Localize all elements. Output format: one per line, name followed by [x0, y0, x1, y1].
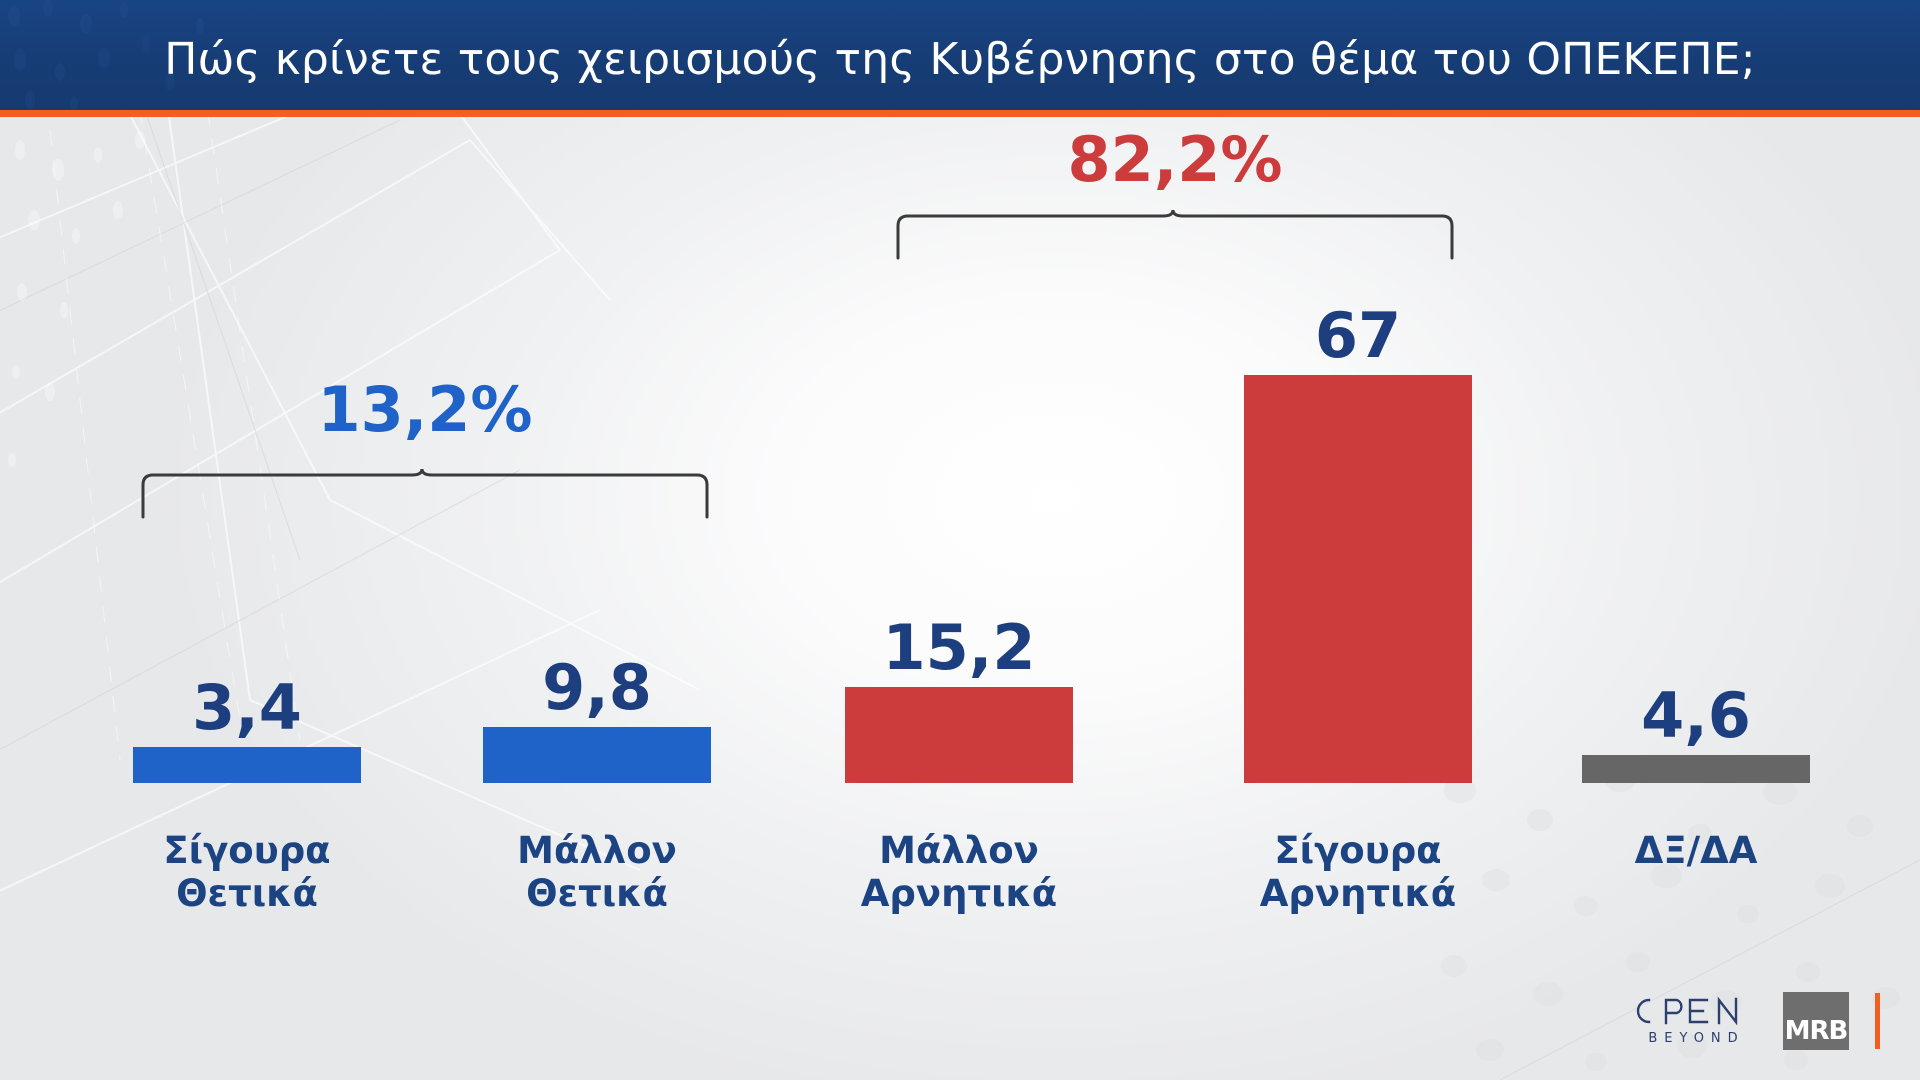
open-wordmark-icon [1629, 996, 1757, 1026]
mrb-wordmark: MRB [1787, 1015, 1845, 1046]
header-bar: Πώς κρίνετε τους χειρισμούς της Κυβέρνησ… [0, 0, 1920, 117]
bar-category-2: Μάλλον Αρνητικά [845, 829, 1073, 916]
bar-value-0: 3,4 [133, 677, 361, 739]
bar-value-4: 4,6 [1582, 685, 1810, 747]
bar-value-3: 67 [1244, 305, 1472, 367]
group-label-negative: 82,2% [895, 129, 1455, 191]
group-label-positive: 13,2% [140, 379, 710, 441]
bar-category-3: Σίγουρα Αρνητικά [1244, 829, 1472, 916]
chart-plot-area: 13,2% 82,2% 3,4 Σίγουρα Θετικά 9,8 Μάλλο… [0, 117, 1920, 1080]
bar-category-1: Μάλλον Θετικά [483, 829, 711, 916]
bar-rect-4[interactable] [1582, 755, 1810, 783]
orange-accent-bar [1875, 993, 1880, 1049]
page-title: Πώς κρίνετε τους χειρισμούς της Κυβέρνησ… [0, 34, 1920, 85]
open-beyond-logo: BEYOND [1629, 996, 1757, 1046]
brace-negative-group [895, 210, 1455, 260]
bar-category-0: Σίγουρα Θετικά [133, 829, 361, 916]
logo-row: BEYOND MRB [1629, 984, 1880, 1058]
mrb-logo-bar [1787, 996, 1845, 1015]
open-tagline: BEYOND [1641, 1031, 1744, 1046]
bar-rect-3[interactable] [1244, 375, 1472, 783]
bar-rect-0[interactable] [133, 747, 361, 783]
bar-value-1: 9,8 [483, 657, 711, 719]
mrb-logo: MRB [1783, 992, 1849, 1050]
bar-rect-2[interactable] [845, 687, 1073, 783]
bar-rect-1[interactable] [483, 727, 711, 783]
brace-positive-group [140, 469, 710, 519]
bar-value-2: 15,2 [845, 617, 1073, 679]
bar-category-4: ΔΞ/ΔΑ [1582, 829, 1810, 872]
